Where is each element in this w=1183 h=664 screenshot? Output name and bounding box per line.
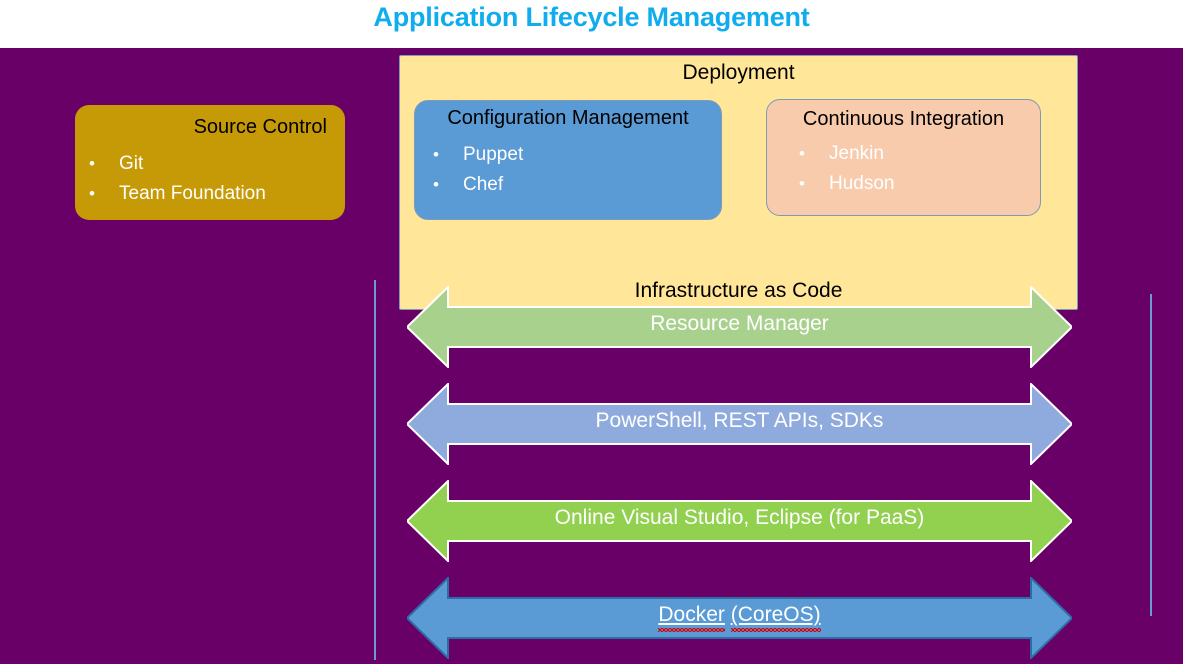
bullet-icon: • xyxy=(85,149,99,179)
arrow-shape xyxy=(407,384,1072,464)
arrow-shape xyxy=(407,287,1072,367)
list-item: • Hudson xyxy=(795,169,895,199)
double-arrow-icon xyxy=(407,383,1072,465)
source-control-card[interactable]: Source Control • Git • Team Foundation xyxy=(75,105,345,220)
arrow-shape xyxy=(407,481,1072,561)
bullet-icon: • xyxy=(795,139,809,169)
title-band: Application Lifecycle Management xyxy=(0,0,1183,48)
right-guide-line xyxy=(1150,294,1152,616)
left-guide-line xyxy=(374,280,376,660)
deployment-title: Deployment xyxy=(400,61,1077,85)
arrow-online-visual-studio-eclipse[interactable]: Online Visual Studio, Eclipse (for PaaS) xyxy=(407,480,1072,562)
list-item: • Chef xyxy=(429,170,523,200)
continuous-integration-list: • Jenkin • Hudson xyxy=(795,139,895,199)
continuous-integration-card[interactable]: Continuous Integration • Jenkin • Hudson xyxy=(766,99,1041,216)
arrow-powershell-rest-sdk[interactable]: PowerShell, REST APIs, SDKs xyxy=(407,383,1072,465)
bullet-icon: • xyxy=(795,169,809,199)
list-item: • Puppet xyxy=(429,140,523,170)
bullet-icon: • xyxy=(85,179,99,209)
list-item: • Team Foundation xyxy=(85,179,266,209)
slide-canvas: Source Control • Git • Team Foundation D… xyxy=(0,48,1183,664)
continuous-integration-title: Continuous Integration xyxy=(767,108,1040,131)
bullet-icon: • xyxy=(429,170,443,200)
deployment-container[interactable]: Deployment Configuration Management • Pu… xyxy=(399,55,1078,310)
configuration-management-list: • Puppet • Chef xyxy=(429,140,523,200)
list-item-label: Team Foundation xyxy=(85,179,266,209)
double-arrow-icon xyxy=(407,480,1072,562)
bullet-icon: • xyxy=(429,140,443,170)
list-item: • Git xyxy=(85,149,266,179)
list-item: • Jenkin xyxy=(795,139,895,169)
configuration-management-title: Configuration Management xyxy=(415,107,721,130)
page-title: Application Lifecycle Management xyxy=(0,2,1183,33)
arrow-resource-manager[interactable]: Resource Manager xyxy=(407,286,1072,368)
list-item-label: Hudson xyxy=(795,169,895,199)
source-control-title: Source Control xyxy=(75,116,345,139)
arrow-docker-coreos[interactable]: Docker (CoreOS) xyxy=(407,577,1072,659)
list-item-label: Puppet xyxy=(429,140,523,170)
double-arrow-icon xyxy=(407,577,1072,659)
double-arrow-icon xyxy=(407,286,1072,368)
configuration-management-card[interactable]: Configuration Management • Puppet • Chef xyxy=(414,100,722,220)
arrow-shape xyxy=(407,578,1072,658)
source-control-list: • Git • Team Foundation xyxy=(85,149,266,209)
